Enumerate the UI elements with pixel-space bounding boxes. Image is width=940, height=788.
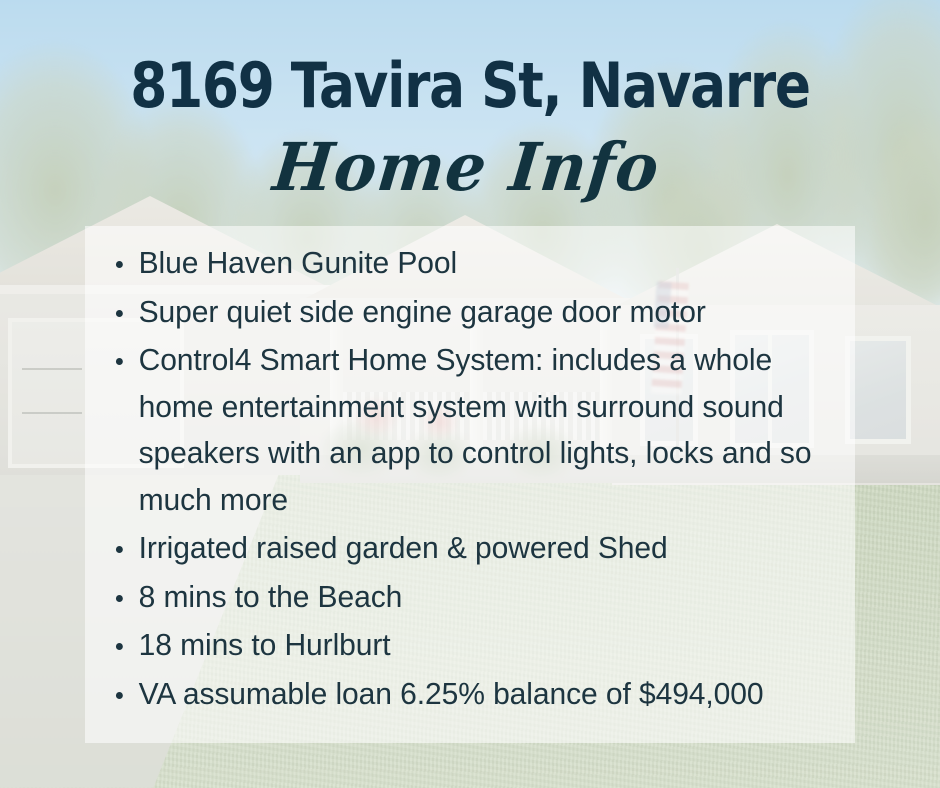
feature-text: Blue Haven Gunite Pool <box>139 246 457 280</box>
feature-list-item: Super quiet side engine garage door moto… <box>112 289 841 336</box>
feature-list-item: Blue Haven Gunite Pool <box>112 240 841 287</box>
bullet-icon <box>116 261 123 268</box>
garage-door-panel-line <box>22 368 82 370</box>
feature-list-item: VA assumable loan 6.25% balance of $494,… <box>112 671 841 718</box>
bullet-icon <box>116 692 123 699</box>
page-title: 8169 Tavira St, Navarre <box>66 55 874 117</box>
feature-text: Super quiet side engine garage door moto… <box>139 295 706 329</box>
feature-list-item: 8 mins to the Beach <box>112 574 841 621</box>
bullet-icon <box>116 358 123 365</box>
feature-text: VA assumable loan 6.25% balance of $494,… <box>139 677 764 711</box>
feature-text: Irrigated raised garden & powered Shed <box>139 531 668 565</box>
bullet-icon <box>116 310 123 317</box>
feature-text: Control4 Smart Home System: includes a w… <box>139 343 812 517</box>
flyer-canvas: 8169 Tavira St, Navarre Home Info Blue H… <box>0 0 940 788</box>
feature-list-item: 18 mins to Hurlburt <box>112 622 841 669</box>
bullet-icon <box>116 595 123 602</box>
home-features-list: Blue Haven Gunite PoolSuper quiet side e… <box>112 240 852 719</box>
garage-door-panel-line <box>22 412 82 414</box>
feature-text: 8 mins to the Beach <box>139 580 403 614</box>
feature-list-item: Irrigated raised garden & powered Shed <box>112 525 841 572</box>
page-subtitle: Home Info <box>12 133 922 202</box>
bullet-icon <box>116 643 123 650</box>
feature-list-item: Control4 Smart Home System: includes a w… <box>112 337 841 523</box>
bullet-icon <box>116 546 123 553</box>
feature-text: 18 mins to Hurlburt <box>139 628 391 662</box>
